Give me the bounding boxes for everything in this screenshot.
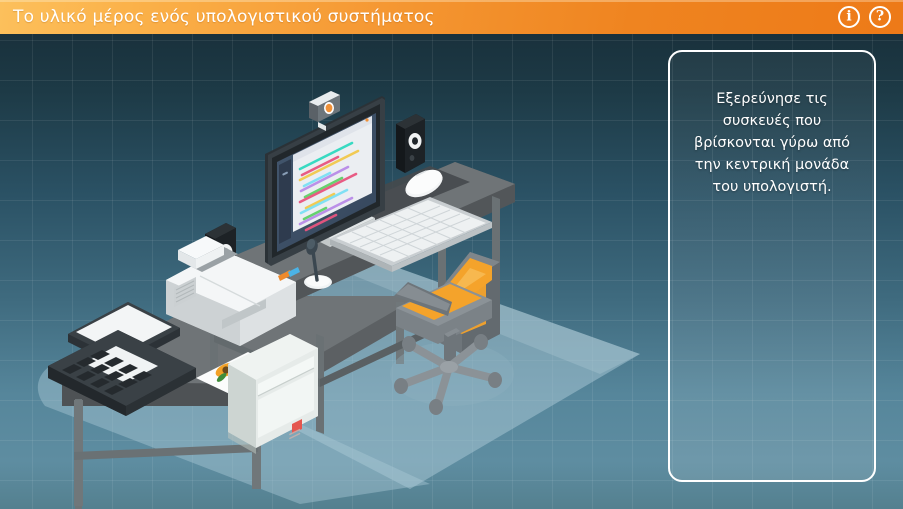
page-title: Το υλικό μέρος ενός υπολογιστικού συστήμ… bbox=[13, 7, 435, 27]
instruction-text: Εξερεύνησε τις συσκευές που βρίσκονται γ… bbox=[686, 88, 858, 198]
application-window: Το υλικό μέρος ενός υπολογιστικού συστήμ… bbox=[0, 0, 903, 509]
info-icon-glyph: i bbox=[846, 10, 851, 24]
instruction-panel: Εξερεύνησε τις συσκευές που βρίσκονται γ… bbox=[668, 50, 876, 482]
help-icon[interactable]: ? bbox=[869, 6, 891, 28]
titlebar-actions: i ? bbox=[838, 6, 891, 28]
scene-stage: Εξερεύνησε τις συσκευές που βρίσκονται γ… bbox=[0, 34, 903, 509]
help-icon-glyph: ? bbox=[876, 10, 884, 24]
title-bar: Το υλικό μέρος ενός υπολογιστικού συστήμ… bbox=[0, 0, 903, 34]
speaker-right[interactable] bbox=[396, 114, 425, 173]
info-icon[interactable]: i bbox=[838, 6, 860, 28]
